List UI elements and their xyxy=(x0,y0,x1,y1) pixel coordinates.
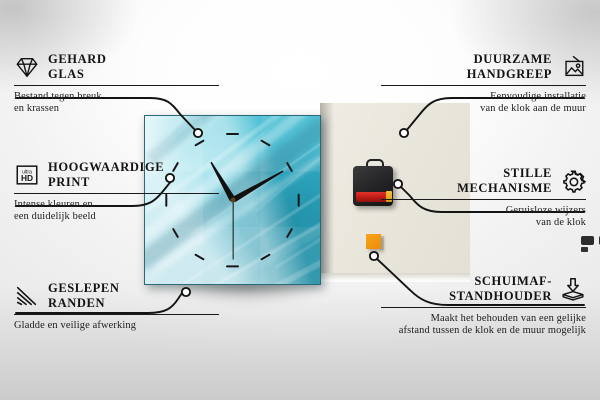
foam-spacer xyxy=(366,234,381,249)
diamond-icon xyxy=(14,54,40,80)
feature-header: DUURZAMEHANDGREEP xyxy=(381,52,586,81)
feature-description: Bestand tegen breuken krassen xyxy=(14,91,219,116)
clock-hand xyxy=(232,200,233,260)
feature-header: GEHARDGLAS xyxy=(14,52,219,81)
divider xyxy=(14,85,219,86)
svg-text:HD: HD xyxy=(21,173,33,183)
feature-gehard-glas: GEHARDGLAS Bestand tegen breuken krassen xyxy=(14,52,219,116)
feature-hoogwaardige-print: ultra HD HOOGWAARDIGEPRINT Intense kleur… xyxy=(14,160,219,224)
feature-description: Intense kleuren eneen duidelijk beeld xyxy=(14,199,219,224)
clock-hub xyxy=(230,198,235,203)
gear-icon xyxy=(560,168,586,194)
foam-spacer-icon xyxy=(560,276,586,302)
feature-title: STILLEMECHANISME xyxy=(457,166,552,195)
feature-schuimafstandhouder: SCHUIMAF-STANDHOUDER Maakt het behouden … xyxy=(381,274,586,338)
feature-title: HOOGWAARDIGEPRINT xyxy=(48,160,164,189)
ultra-hd-icon: ultra HD xyxy=(14,162,40,188)
feature-title: DUURZAMEHANDGREEP xyxy=(467,52,552,81)
divider xyxy=(14,193,219,194)
infographic-canvas: GEHARDGLAS Bestand tegen breuken krassen… xyxy=(0,0,600,400)
feature-duurzame-handgreep: DUURZAMEHANDGREEP Eenvoudige installatie… xyxy=(381,52,586,116)
divider xyxy=(381,199,586,200)
divider xyxy=(381,307,586,308)
feature-header: ultra HD HOOGWAARDIGEPRINT xyxy=(14,160,219,189)
mechanism-panel-a xyxy=(581,236,594,245)
divider xyxy=(14,314,219,315)
feature-stille-mechanisme: STILLEMECHANISME Geruisloze wijzersvan d… xyxy=(381,166,586,230)
feature-header: GESLEPENRANDEN xyxy=(14,281,219,310)
feature-description: Maakt het behouden van een gelijkeafstan… xyxy=(381,313,586,338)
feature-header: STILLEMECHANISME xyxy=(381,166,586,195)
feature-header: SCHUIMAF-STANDHOUDER xyxy=(381,274,586,303)
feature-description: Gladde en veilige afwerking xyxy=(14,320,219,332)
beveled-edges-icon xyxy=(14,283,40,309)
mechanism-panel-c xyxy=(581,247,588,252)
wall-panel-shadow xyxy=(320,103,334,275)
divider xyxy=(381,85,586,86)
hour-marker xyxy=(297,193,299,206)
feature-title: GEHARDGLAS xyxy=(48,52,106,81)
feature-description: Geruisloze wijzersvan de klok xyxy=(381,205,586,230)
picture-hanger-icon xyxy=(560,54,586,80)
feature-title: GESLEPENRANDEN xyxy=(48,281,120,310)
feature-geslepen-randen: GESLEPENRANDEN Gladde en veilige afwerki… xyxy=(14,281,219,332)
feature-title: SCHUIMAF-STANDHOUDER xyxy=(449,274,552,303)
hour-marker xyxy=(226,265,239,267)
feature-description: Eenvoudige installatievan de klok aan de… xyxy=(381,91,586,116)
